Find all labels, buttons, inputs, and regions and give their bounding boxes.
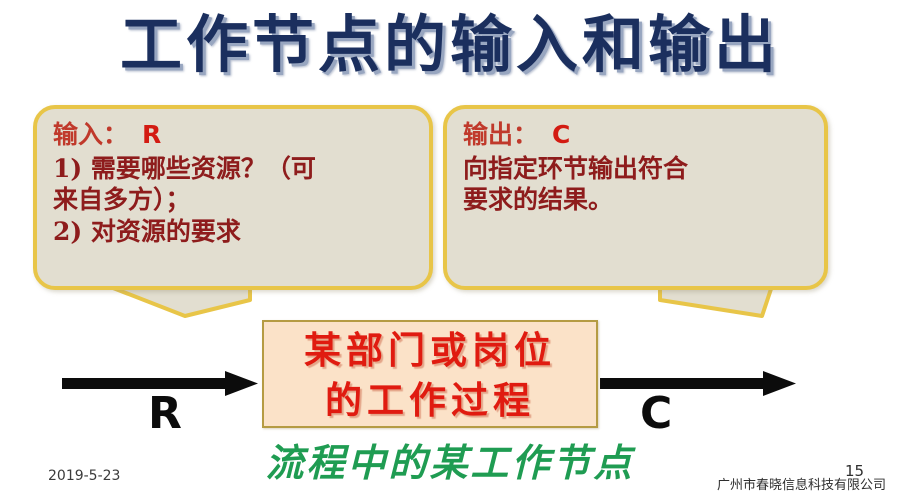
- output-callout-body: 输出：C 向指定环节输出符合 要求的结果。: [463, 119, 814, 216]
- process-node-box: 某部门或岗位 的工作过程: [262, 320, 598, 428]
- slide-canvas: 工作节点的输入和输出 输入：R 1) 需要哪些资源？（可 来自多方）； 2) 对…: [0, 0, 900, 502]
- output-callout-heading: 输出：C: [463, 119, 814, 151]
- footer-company: 广州市春晓信息科技有限公司: [717, 474, 886, 493]
- input-callout-line-3: 2) 对资源的要求: [53, 216, 419, 248]
- input-callout-line-2: 来自多方）；: [53, 184, 419, 216]
- input-callout: 输入：R 1) 需要哪些资源？（可 来自多方）； 2) 对资源的要求: [33, 105, 433, 290]
- footer-date: 2019-5-23: [48, 468, 120, 484]
- process-node-line-2: 的工作过程: [264, 376, 596, 426]
- output-callout-heading-label: 输出：: [463, 120, 538, 149]
- input-callout-heading-label: 输入：: [53, 120, 128, 149]
- input-callout-heading: 输入：R: [53, 119, 419, 151]
- output-arrow: [600, 370, 800, 400]
- output-callout-line-1: 向指定环节输出符合: [463, 153, 814, 185]
- page-title: 工作节点的输入和输出: [0, 8, 900, 81]
- output-callout: 输出：C 向指定环节输出符合 要求的结果。: [443, 105, 828, 290]
- output-arrow-label: C: [640, 392, 672, 436]
- output-callout-tag: C: [552, 120, 570, 149]
- input-callout-body: 输入：R 1) 需要哪些资源？（可 来自多方）； 2) 对资源的要求: [53, 119, 419, 247]
- input-arrow-label: R: [148, 392, 182, 436]
- input-callout-tag: R: [142, 120, 161, 149]
- output-callout-line-2: 要求的结果。: [463, 184, 814, 216]
- input-callout-line-1: 1) 需要哪些资源？（可: [53, 153, 419, 185]
- process-node-text: 某部门或岗位 的工作过程: [264, 326, 596, 425]
- process-node-line-1: 某部门或岗位: [264, 326, 596, 376]
